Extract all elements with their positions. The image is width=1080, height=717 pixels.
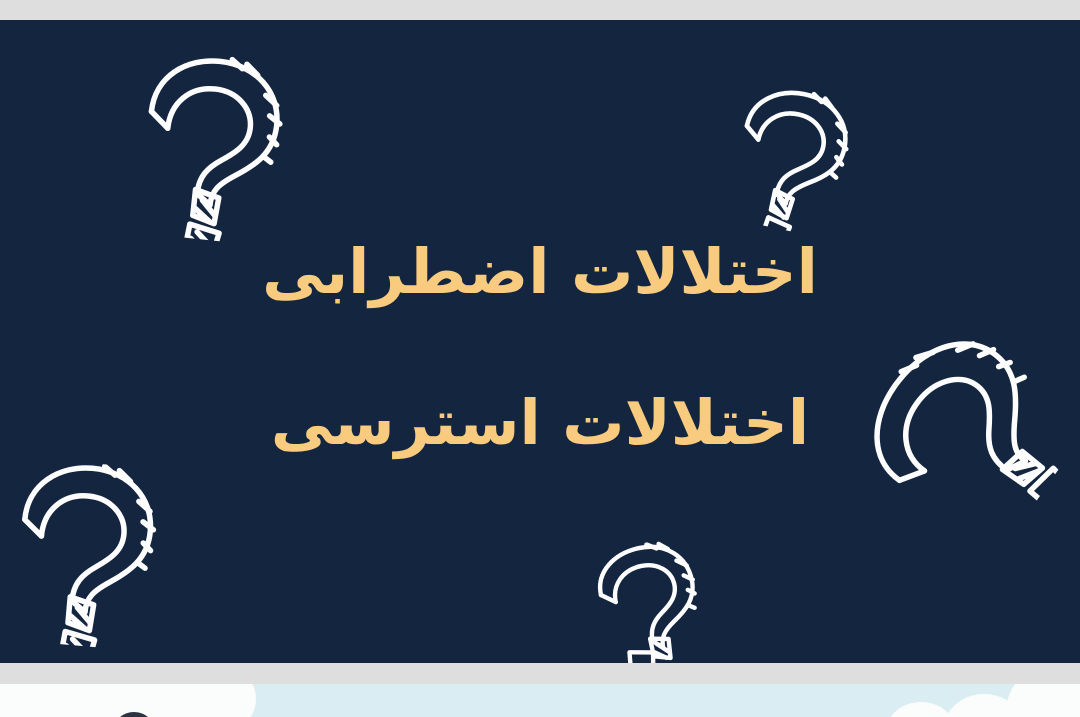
slide-title-block: اختلالات اضطرابی اختلالات استرسی <box>0 235 1080 459</box>
question-mark-icon-top-right <box>720 77 865 240</box>
question-mark-icon-top-left <box>129 48 296 247</box>
slide-separator <box>0 663 1080 684</box>
cloud-shape <box>1006 684 1080 717</box>
question-mark-icon-bottom-left <box>4 457 167 652</box>
presentation-slide[interactable]: اختلالات اضطرابی اختلالات استرسی <box>0 20 1080 663</box>
question-mark-icon-bottom-center <box>584 533 715 663</box>
slide-title-line-1: اختلالات اضطرابی <box>0 235 1080 308</box>
slide-title-line-2: اختلالات استرسی <box>0 386 1080 459</box>
top-gray-strip <box>0 0 1080 20</box>
cloud-shape <box>192 684 256 717</box>
cloud-shape <box>886 702 956 717</box>
next-slide-preview[interactable] <box>0 684 1080 717</box>
screenshot-root: اختلالات اضطرابی اختلالات استرسی <box>0 0 1080 717</box>
